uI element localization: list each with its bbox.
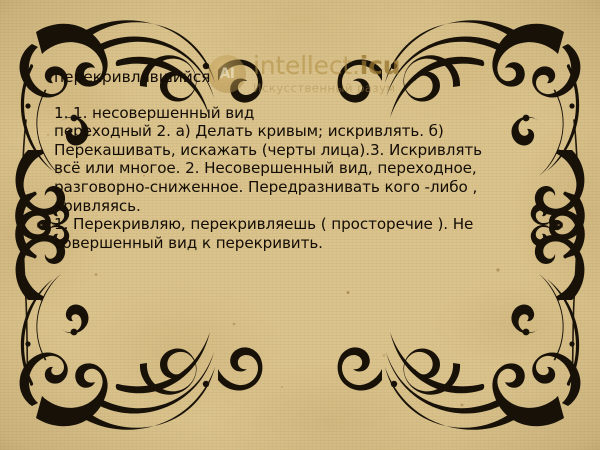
definition-line: 1. 1. несовершенный вид bbox=[54, 104, 554, 123]
dictionary-entry: перекривлявшийся 1. 1. несовершенный вид… bbox=[54, 68, 554, 252]
definition-line: переходный 2. а) Делать кривым; искривля… bbox=[54, 122, 554, 141]
definition-line: 1. Перекривляю, перекривляешь ( просторе… bbox=[54, 215, 554, 234]
sense-block: 1. Перекривляю, перекривляешь ( просторе… bbox=[54, 215, 554, 252]
sense-block: 1. 1. несовершенный вид переходный 2. а)… bbox=[54, 104, 554, 216]
definition-line: разговорно-сниженное. Передразнивать ког… bbox=[54, 178, 554, 197]
entry-definitions: 1. 1. несовершенный вид переходный 2. а)… bbox=[54, 104, 554, 253]
parchment-card: AI intellect.icu Искусственный разум пер… bbox=[0, 0, 600, 450]
definition-line: Перекашивать, искажать (черты лица).3. И… bbox=[54, 141, 554, 160]
definition-line: кривляясь. bbox=[54, 197, 554, 216]
definition-line: всё или многое. 2. Несовершенный вид, пе… bbox=[54, 159, 554, 178]
definition-line: совершенный вид к перекривить. bbox=[54, 234, 554, 253]
entry-headword: перекривлявшийся bbox=[54, 68, 554, 87]
